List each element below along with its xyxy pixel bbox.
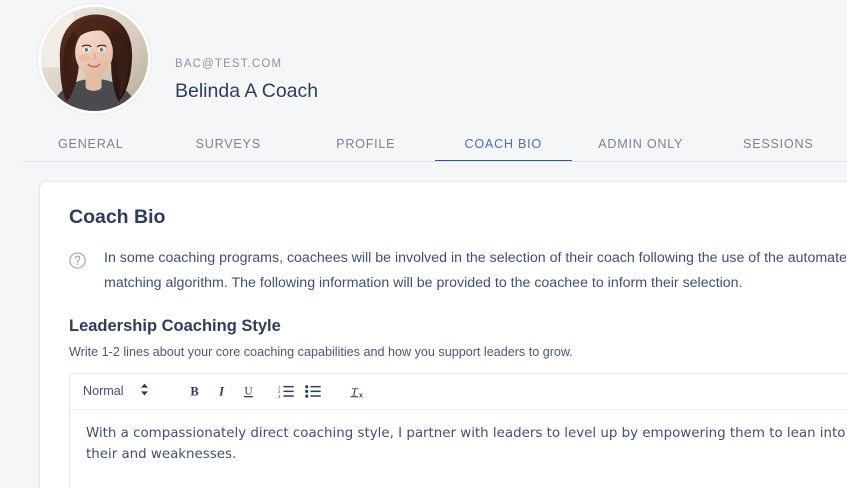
tab-profile[interactable]: PROFILE	[297, 137, 435, 162]
bold-button[interactable]: B	[181, 378, 208, 404]
section-hint: Write 1-2 lines about your core coaching…	[69, 346, 847, 359]
clear-format-button[interactable]: T x	[345, 378, 372, 404]
tab-bar: GENERAL SURVEYS PROFILE COACH BIO ADMIN …	[0, 118, 847, 162]
editor-content-area[interactable]: With a compassionately direct coaching s…	[70, 410, 847, 488]
svg-text:x: x	[359, 392, 363, 399]
page-title: Coach Bio	[69, 208, 847, 228]
editor-paragraph: With a compassionately direct coaching s…	[86, 423, 847, 465]
tab-general[interactable]: GENERAL	[22, 137, 160, 162]
format-select[interactable]: Normal	[83, 383, 163, 399]
format-select-value: Normal	[83, 384, 124, 398]
chevron-up-down-icon	[140, 383, 149, 399]
svg-text:B: B	[190, 384, 198, 398]
editor-toolbar: Normal B I	[70, 374, 847, 410]
section-title: Leadership Coaching Style	[69, 318, 847, 335]
info-text: In some coaching programs, coachees will…	[104, 246, 847, 296]
profile-header: BAC@TEST.COM Belinda A Coach	[0, 0, 847, 118]
svg-text:I: I	[218, 384, 225, 398]
coach-bio-page: BAC@TEST.COM Belinda A Coach GENERAL SUR…	[0, 0, 847, 488]
svg-text:U: U	[244, 385, 253, 397]
user-name: Belinda A Coach	[175, 82, 318, 102]
tab-surveys[interactable]: SURVEYS	[160, 137, 298, 162]
help-circle-icon	[69, 252, 86, 269]
tab-sessions[interactable]: SESSIONS	[710, 137, 847, 162]
underline-button[interactable]: U	[235, 378, 262, 404]
tab-admin-only[interactable]: ADMIN ONLY	[572, 137, 710, 162]
coach-bio-card: Coach Bio In some coaching programs, coa…	[39, 181, 847, 488]
info-banner: In some coaching programs, coachees will…	[69, 246, 847, 296]
user-email: BAC@TEST.COM	[175, 59, 318, 71]
bullet-list-button[interactable]	[300, 378, 327, 404]
identity-block: BAC@TEST.COM Belinda A Coach	[151, 4, 318, 101]
svg-text:3: 3	[278, 394, 281, 398]
avatar[interactable]	[38, 4, 151, 114]
rich-text-editor: Normal B I	[69, 373, 847, 488]
italic-button[interactable]: I	[208, 378, 235, 404]
tab-coach-bio[interactable]: COACH BIO	[435, 137, 573, 162]
ordered-list-button[interactable]: 1 2 3	[273, 378, 300, 404]
